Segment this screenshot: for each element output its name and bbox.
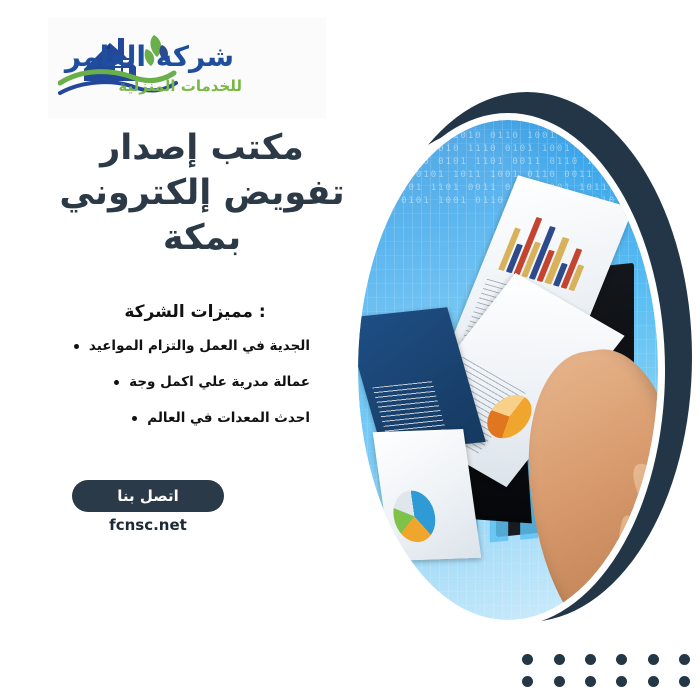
list-item: الجدية في العمل والتزام المواعيد xyxy=(80,338,310,354)
document-sheet-pie xyxy=(373,429,482,561)
features-list: الجدية في العمل والتزام المواعيد عمالة م… xyxy=(80,338,310,426)
feature-label: عمالة مدرية علي اكمل وجة xyxy=(129,374,310,390)
bullet-icon xyxy=(132,416,137,421)
feature-label: احدث المعدات في العالم xyxy=(147,410,310,426)
brand-logo[interactable]: شركة العامر للخدمات المنزلية xyxy=(48,18,326,118)
bullet-icon xyxy=(114,380,119,385)
feature-label: الجدية في العمل والتزام المواعيد xyxy=(89,338,310,354)
hero-photo: 10110 01001 1010 0110 1001 0011 1101 010… xyxy=(358,120,658,620)
website-url[interactable]: fcnsc.net xyxy=(72,516,224,534)
list-item: عمالة مدرية علي اكمل وجة xyxy=(80,374,310,390)
decorative-dot-grid xyxy=(512,648,700,692)
logo-subtitle: للخدمات المنزلية xyxy=(118,79,242,94)
features-section: : مميزات الشركة الجدية في العمل والتزام … xyxy=(80,302,310,446)
list-item: احدث المعدات في العالم xyxy=(80,410,310,426)
headline-line-1: مكتب إصدار xyxy=(52,126,352,171)
headline-line-2: تفويض إلكتروني xyxy=(52,171,352,216)
page-title: مكتب إصدار تفويض إلكتروني بمكة xyxy=(52,126,352,260)
features-title: : مميزات الشركة xyxy=(80,302,310,322)
logo-title: شركة العامر xyxy=(65,43,234,71)
poster-canvas: 10110 01001 1010 0110 1001 0011 1101 010… xyxy=(0,0,700,700)
headline-line-3: بمكة xyxy=(52,216,352,261)
bullet-icon xyxy=(74,344,79,349)
contact-us-button[interactable]: اتصل بنا xyxy=(72,480,224,512)
pie-chart-graphic xyxy=(390,490,439,543)
